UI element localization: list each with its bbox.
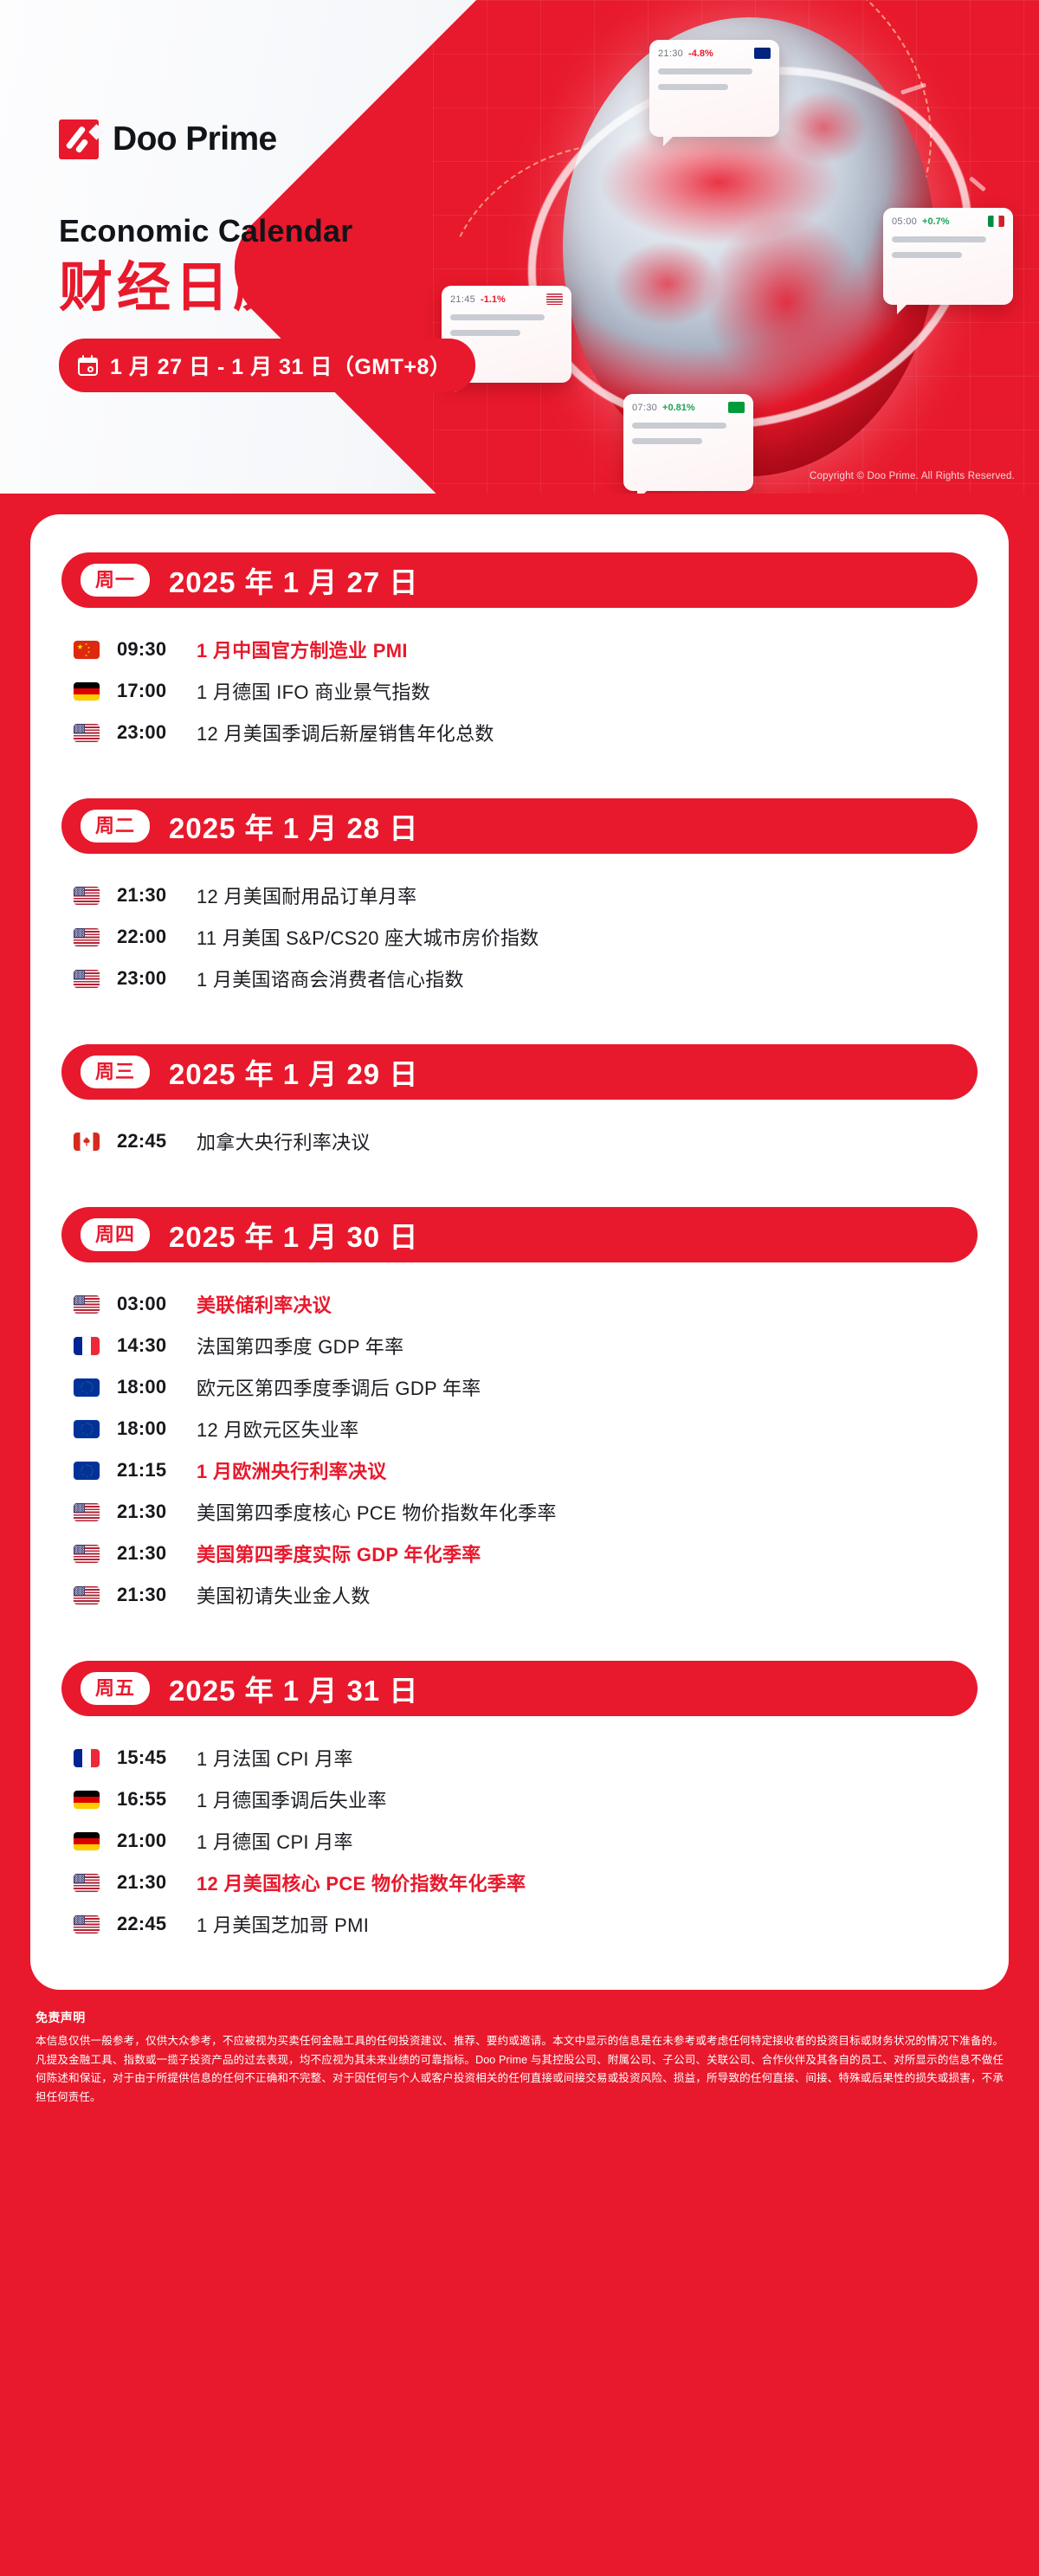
day-header: 周四2025 年 1 月 30 日 (61, 1207, 978, 1262)
us-flag-icon (74, 1586, 100, 1604)
us-flag-icon (74, 1915, 100, 1934)
day-date-label: 2025 年 1 月 31 日 (169, 1668, 418, 1709)
event-title: 1 月美国芝加哥 PMI (197, 1910, 369, 1938)
disclaimer-title: 免责声明 (35, 2009, 1004, 2026)
event-time: 18:00 (117, 1417, 197, 1440)
event-time: 21:30 (117, 1501, 197, 1523)
us-flag-icon (74, 724, 100, 742)
event-row[interactable]: 21:30美国第四季度实际 GDP 年化季率 (74, 1533, 969, 1574)
event-time: 16:55 (117, 1788, 197, 1811)
event-time: 23:00 (117, 967, 197, 990)
event-row[interactable]: 16:551 月德国季调后失业率 (74, 1779, 969, 1820)
weekday-badge: 周三 (81, 1056, 150, 1088)
event-row[interactable]: 23:0012 月美国季调后新屋销售年化总数 (74, 712, 969, 753)
event-title: 1 月欧洲央行利率决议 (197, 1456, 387, 1484)
event-time: 21:00 (117, 1830, 197, 1852)
fr-flag-icon (74, 1749, 100, 1767)
event-time: 15:45 (117, 1746, 197, 1769)
event-row[interactable]: 21:001 月德国 CPI 月率 (74, 1820, 969, 1862)
weekday-badge: 周五 (81, 1672, 150, 1704)
event-title: 1 月德国季调后失业率 (197, 1785, 387, 1813)
event-title: 1 月法国 CPI 月率 (197, 1744, 353, 1772)
quote-bar (658, 68, 752, 74)
calendar-card: 周一2025 年 1 月 27 日09:301 月中国官方制造业 PMI17:0… (30, 514, 1009, 1990)
event-time: 22:45 (117, 1130, 197, 1152)
day-date-label: 2025 年 1 月 29 日 (169, 1051, 418, 1093)
economic-calendar-page: 21:30 -4.8% 05:00 +0.7% 21:45 -1.1% (0, 0, 1039, 2576)
event-row[interactable]: 18:0012 月欧元区失业率 (74, 1408, 969, 1449)
us-flag-icon (74, 928, 100, 946)
day-date-label: 2025 年 1 月 28 日 (169, 805, 418, 847)
event-time: 21:30 (117, 1871, 197, 1894)
fr-flag-icon (74, 1337, 100, 1355)
quote-bar (892, 252, 962, 258)
event-title: 欧元区第四季度季调后 GDP 年率 (197, 1373, 481, 1401)
eu-flag-icon (74, 1378, 100, 1397)
quote-bar (658, 84, 728, 90)
day-header: 周五2025 年 1 月 31 日 (61, 1661, 978, 1716)
event-title: 法国第四季度 GDP 年率 (197, 1332, 403, 1359)
event-title: 加拿大央行利率决议 (197, 1127, 371, 1155)
event-row[interactable]: 15:451 月法国 CPI 月率 (74, 1737, 969, 1779)
event-time: 09:30 (117, 638, 197, 661)
event-row[interactable]: 21:30美国第四季度核心 PCE 物价指数年化季率 (74, 1491, 969, 1533)
event-list: 09:301 月中国官方制造业 PMI17:001 月德国 IFO 商业景气指数… (61, 615, 978, 753)
event-title: 美国第四季度实际 GDP 年化季率 (197, 1540, 481, 1567)
quote-time: 07:30 (632, 403, 657, 413)
us-flag-icon (74, 1503, 100, 1521)
event-time: 21:30 (117, 884, 197, 907)
quote-card: 07:30 +0.81% (623, 394, 753, 491)
event-title: 1 月德国 CPI 月率 (197, 1827, 353, 1855)
event-row[interactable]: 23:001 月美国谘商会消费者信心指数 (74, 958, 969, 999)
event-title: 12 月美国季调后新屋销售年化总数 (197, 719, 494, 746)
date-range-label: 1 月 27 日 - 1 月 31 日（GMT+8） (110, 350, 451, 381)
brand-name: Doo Prime (113, 120, 277, 158)
event-row[interactable]: 14:30法国第四季度 GDP 年率 (74, 1325, 969, 1366)
us-flag-icon (74, 1874, 100, 1892)
it-flag-icon (988, 216, 1004, 227)
event-list: 15:451 月法国 CPI 月率16:551 月德国季调后失业率21:001 … (61, 1723, 978, 1945)
event-row[interactable]: 21:3012 月美国核心 PCE 物价指数年化季率 (74, 1862, 969, 1903)
event-row[interactable]: 21:3012 月美国耐用品订单月率 (74, 875, 969, 916)
day-header: 周二2025 年 1 月 28 日 (61, 798, 978, 854)
event-time: 22:00 (117, 926, 197, 948)
quote-time: 05:00 (892, 216, 917, 227)
eu-flag-icon (74, 1420, 100, 1438)
event-time: 17:00 (117, 680, 197, 702)
event-row[interactable]: 21:30美国初请失业金人数 (74, 1574, 969, 1616)
disclaimer-section: 免责声明 本信息仅供一般参考，仅供大众参考，不应被视为买卖任何金融工具的任何投资… (30, 2009, 1009, 2133)
quote-card: 21:30 -4.8% (649, 40, 779, 137)
event-title: 美国第四季度核心 PCE 物价指数年化季率 (197, 1498, 557, 1526)
event-title: 12 月欧元区失业率 (197, 1415, 359, 1443)
disclaimer-body: 本信息仅供一般参考，仅供大众参考，不应被视为买卖任何金融工具的任何投资建议、推荐… (35, 2032, 1004, 2107)
us-flag-icon (74, 1545, 100, 1563)
ca-flag-icon (74, 1133, 100, 1151)
de-flag-icon (74, 1791, 100, 1809)
banner-copyright: Copyright © Doo Prime. All Rights Reserv… (810, 471, 1015, 481)
event-row[interactable]: 22:0011 月美国 S&P/CS20 座大城市房价指数 (74, 916, 969, 958)
page-title-cn: 财经日历 (59, 258, 475, 318)
us-flag-icon (74, 1295, 100, 1314)
event-row[interactable]: 22:451 月美国芝加哥 PMI (74, 1903, 969, 1945)
day-date-label: 2025 年 1 月 30 日 (169, 1214, 418, 1256)
event-time: 21:15 (117, 1459, 197, 1482)
quote-card: 05:00 +0.7% (883, 208, 1013, 305)
event-title: 1 月美国谘商会消费者信心指数 (197, 965, 464, 992)
quote-value: +0.81% (662, 403, 695, 413)
event-title: 美联储利率决议 (197, 1290, 332, 1318)
banner-content: Doo Prime Economic Calendar 财经日历 1 月 27 … (59, 0, 475, 392)
event-title: 11 月美国 S&P/CS20 座大城市房价指数 (197, 923, 539, 951)
event-title: 12 月美国耐用品订单月率 (197, 881, 416, 909)
quote-bar (632, 438, 702, 444)
weekday-badge: 周一 (81, 564, 150, 596)
br-flag-icon (728, 402, 745, 413)
day-header: 周三2025 年 1 月 29 日 (61, 1044, 978, 1100)
de-flag-icon (74, 1832, 100, 1850)
day-header: 周一2025 年 1 月 27 日 (61, 552, 978, 608)
event-title: 1 月中国官方制造业 PMI (197, 636, 408, 663)
doo-prime-logo-icon (59, 119, 99, 159)
quote-value: -1.1% (481, 294, 506, 305)
calendar-icon (78, 355, 100, 377)
event-row[interactable]: 09:301 月中国官方制造业 PMI (74, 629, 969, 670)
event-time: 21:30 (117, 1542, 197, 1565)
event-time: 03:00 (117, 1293, 197, 1315)
quote-value: +0.7% (922, 216, 950, 227)
eu-flag-icon (74, 1462, 100, 1480)
us-flag-icon (74, 970, 100, 988)
us-flag-icon (74, 887, 100, 905)
gb-flag-icon (754, 48, 771, 59)
de-flag-icon (74, 682, 100, 700)
event-list: 22:45加拿大央行利率决议 (61, 1107, 978, 1162)
event-row[interactable]: 17:001 月德国 IFO 商业景气指数 (74, 670, 969, 712)
event-time: 18:00 (117, 1376, 197, 1398)
event-title: 12 月美国核心 PCE 物价指数年化季率 (197, 1869, 526, 1896)
event-time: 14:30 (117, 1334, 197, 1357)
weekday-badge: 周二 (81, 810, 150, 842)
quote-value: -4.8% (688, 48, 713, 59)
cn-flag-icon (74, 641, 100, 659)
page-title-en: Economic Calendar (59, 213, 475, 249)
brand-logo: Doo Prime (59, 119, 475, 159)
quote-bar (892, 236, 986, 242)
event-list: 03:00美联储利率决议14:30法国第四季度 GDP 年率18:00欧元区第四… (61, 1269, 978, 1616)
event-title: 1 月德国 IFO 商业景气指数 (197, 677, 430, 705)
day-date-label: 2025 年 1 月 27 日 (169, 559, 418, 601)
event-row[interactable]: 21:151 月欧洲央行利率决议 (74, 1449, 969, 1491)
event-title: 美国初请失业金人数 (197, 1581, 371, 1609)
event-row[interactable]: 22:45加拿大央行利率决议 (74, 1120, 969, 1162)
event-time: 23:00 (117, 721, 197, 744)
event-list: 21:3012 月美国耐用品订单月率22:0011 月美国 S&P/CS20 座… (61, 861, 978, 999)
event-time: 22:45 (117, 1913, 197, 1935)
quote-time: 21:30 (658, 48, 683, 59)
weekday-badge: 周四 (81, 1218, 150, 1250)
event-row[interactable]: 03:00美联储利率决议 (74, 1283, 969, 1325)
hero-banner: 21:30 -4.8% 05:00 +0.7% 21:45 -1.1% (0, 0, 1039, 494)
us-flag-icon (546, 294, 563, 305)
event-time: 21:30 (117, 1584, 197, 1606)
date-range-badge: 1 月 27 日 - 1 月 31 日（GMT+8） (59, 339, 475, 392)
quote-bar (632, 423, 726, 429)
event-row[interactable]: 18:00欧元区第四季度季调后 GDP 年率 (74, 1366, 969, 1408)
